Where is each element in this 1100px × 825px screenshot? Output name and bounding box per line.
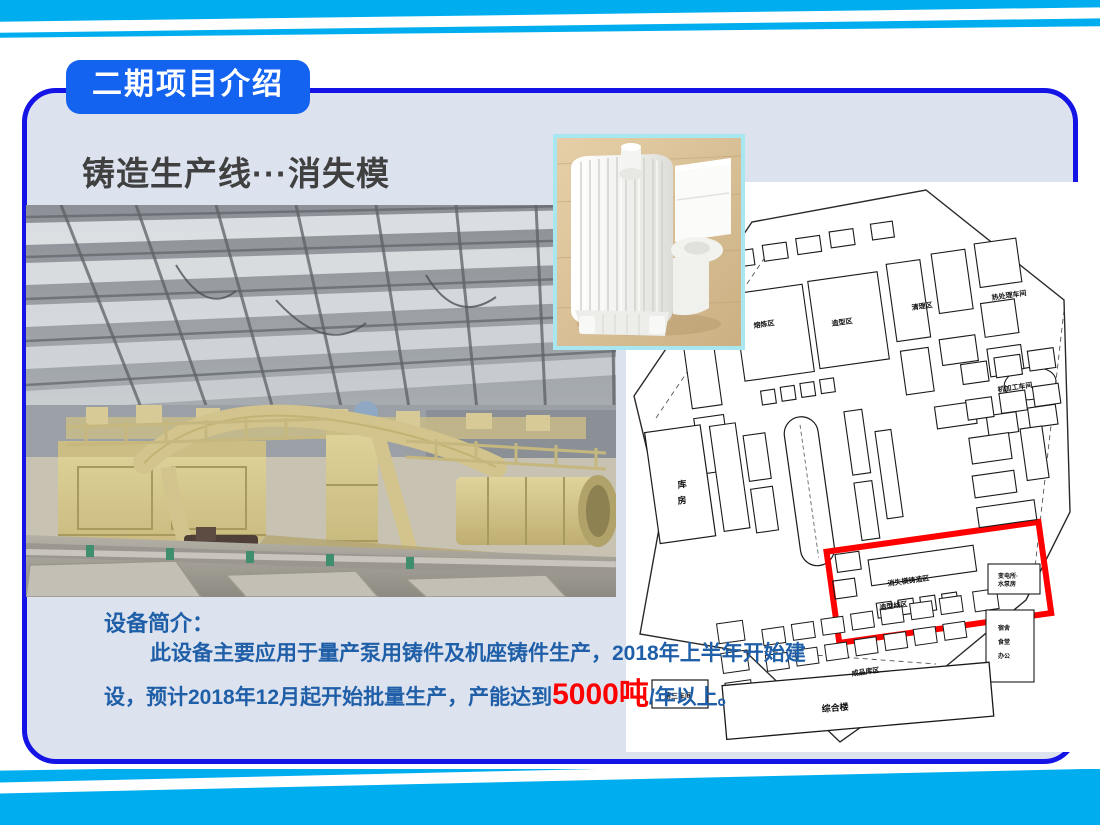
svg-text:办公: 办公 xyxy=(998,652,1010,660)
paragraph-two-prefix: 设，预计2018年12月起开始批量生产，产能达到 xyxy=(104,686,552,709)
svg-text:水泵房: 水泵房 xyxy=(998,580,1016,588)
description-block: 设备简介： 此设备主要应用于量产泵用铸件及机座铸件生产，2018年上半年开始建 … xyxy=(104,612,904,711)
factory-photo-art xyxy=(26,205,616,597)
paragraph-one: 此设备主要应用于量产泵用铸件及机座铸件生产，2018年上半年开始建 xyxy=(104,643,904,665)
svg-text:食堂: 食堂 xyxy=(997,638,1010,646)
intro-label: 设备简介： xyxy=(104,612,904,635)
svg-text:库: 库 xyxy=(677,478,687,490)
paragraph-two: 设，预计2018年12月起开始批量生产，产能达到5000吨/年以上。 xyxy=(104,679,904,711)
svg-text:宿舍: 宿舍 xyxy=(998,624,1011,632)
section-title-badge[interactable]: 二期项目介绍 xyxy=(66,60,310,114)
capacity-highlight: 5000吨 xyxy=(552,678,649,711)
svg-text:房: 房 xyxy=(677,494,687,506)
factory-photo xyxy=(26,205,616,597)
slide-canvas: 铸造生产线···消失模 xyxy=(0,0,1100,825)
foam-pattern-art xyxy=(557,138,741,346)
svg-text:变电所·: 变电所· xyxy=(998,572,1018,580)
foam-pattern-photo xyxy=(553,134,745,350)
page-title: 铸造生产线···消失模 xyxy=(82,147,390,195)
paragraph-two-suffix: /年以上。 xyxy=(649,686,739,709)
top-decoration-band xyxy=(0,0,1100,58)
